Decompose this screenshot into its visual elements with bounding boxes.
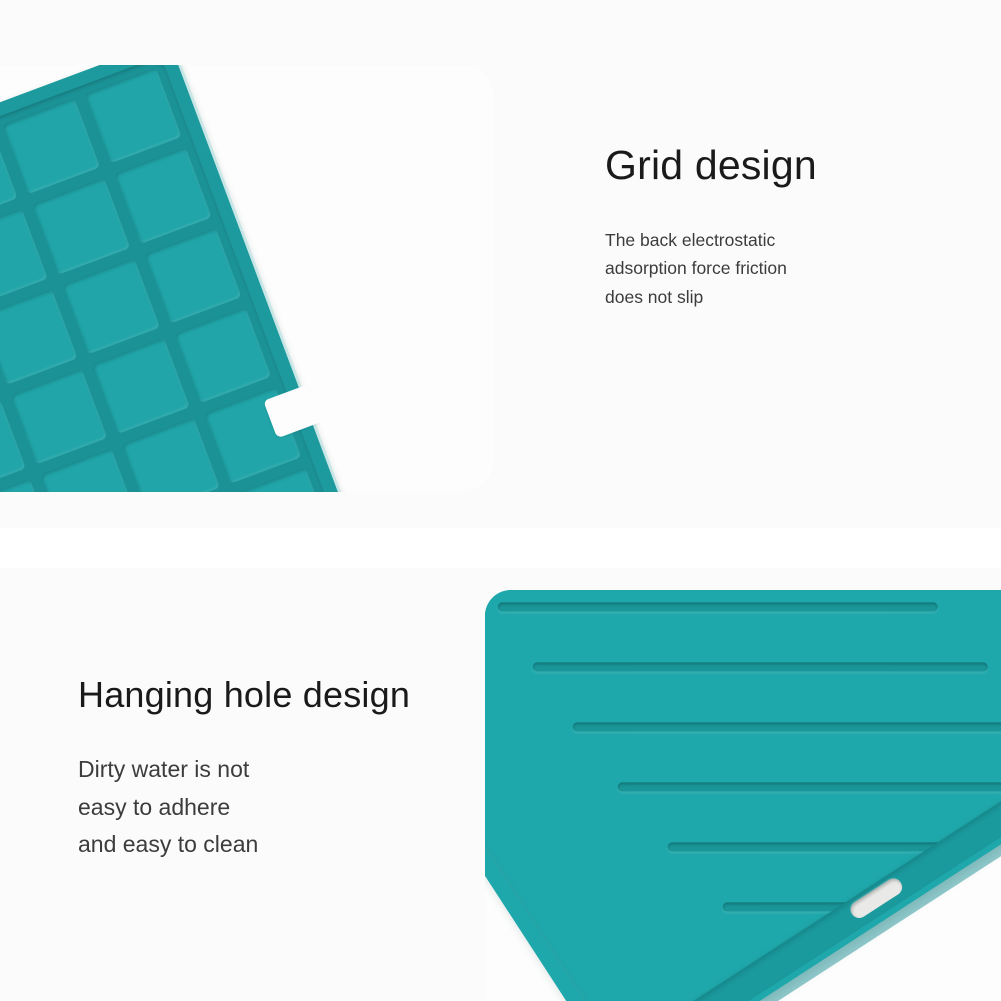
ribbed-mat-surface: [485, 590, 1001, 1001]
grid-mat-image-panel: [0, 65, 495, 492]
groove: [573, 722, 1001, 731]
section-divider: [0, 528, 1001, 568]
hanging-hole-body-line: and easy to clean: [78, 831, 258, 857]
grid-cell: [32, 178, 130, 274]
grid-design-text-block: Grid design The back electrostaticadsorp…: [605, 143, 945, 311]
hanging-hole-body: Dirty water is noteasy to adhereand easy…: [78, 751, 418, 863]
ribbed-mat-image-panel: [485, 590, 1001, 1001]
ribbed-mat-body: [485, 590, 1001, 1001]
grid-cell: [62, 258, 160, 354]
grid-design-body: The back electrostaticadsorption force f…: [605, 226, 945, 311]
grid-cell: [0, 289, 78, 385]
grid-design-body-line: adsorption force friction: [605, 258, 787, 278]
teal-grid-mat-photo: [0, 65, 412, 492]
section-hanging-hole-design: Hanging hole design Dirty water is notea…: [0, 568, 1001, 1001]
hanging-hole-body-line: Dirty water is not: [78, 756, 249, 782]
grid-cell: [122, 418, 220, 492]
groove: [618, 782, 1001, 791]
product-feature-page: Grid design The back electrostaticadsorp…: [0, 0, 1001, 1001]
section-grid-design: Grid design The back electrostaticadsorp…: [0, 0, 1001, 530]
teal-ribbed-mat-photo: [485, 590, 1001, 1001]
grid-design-heading: Grid design: [605, 143, 945, 189]
grid-design-body-line: The back electrostatic: [605, 230, 775, 250]
grid-cell: [92, 338, 190, 434]
groove: [533, 662, 988, 671]
ribbed-mat-grooves: [485, 590, 1001, 1001]
grid-design-body-line: does not slip: [605, 287, 703, 307]
hanging-hole-heading: Hanging hole design: [78, 675, 418, 715]
grid-cell: [10, 369, 108, 465]
hanging-hole-text-block: Hanging hole design Dirty water is notea…: [78, 675, 418, 864]
groove: [498, 602, 938, 611]
hanging-hole-body-line: easy to adhere: [78, 794, 230, 820]
